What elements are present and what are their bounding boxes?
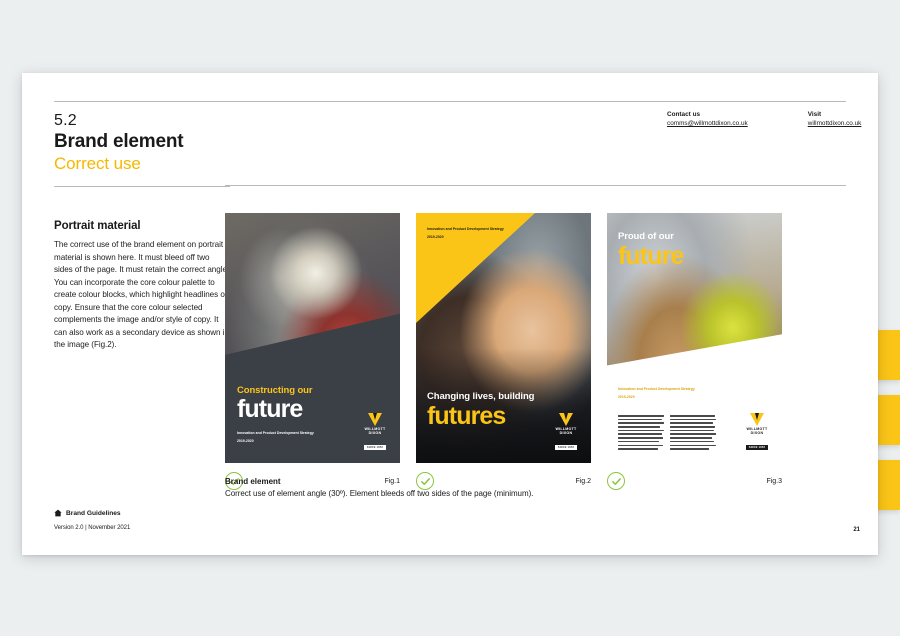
cover-2-headline-main: futures [427, 404, 547, 429]
screenshot-stage: 5.2 Brand element Correct use Portrait m… [0, 0, 900, 636]
cover-3-logo-bar: SINCE 1852 [746, 445, 767, 449]
willmott-dixon-mark-icon [368, 413, 382, 426]
cover-1-logo: WILLMOTT DIXON SINCE 1852 [358, 413, 392, 454]
card-3-figure-label: Fig.3 [766, 478, 782, 485]
cover-3-body-columns [618, 415, 716, 452]
header-divider-bottom [225, 185, 846, 186]
divider-bottom [54, 186, 230, 187]
contact-block: Contact us comms@willmottdixon.co.uk Vis… [667, 111, 847, 127]
check-circle-icon [607, 472, 625, 490]
card-2-figure-label: Fig.2 [575, 478, 591, 485]
footer-title-row: Brand Guidelines [54, 504, 130, 522]
figure-caption-title: Brand element [225, 477, 533, 486]
cover-2-logo-bar: SINCE 1852 [555, 445, 576, 449]
cover-2-logo-name: WILLMOTT DIXON [549, 427, 583, 435]
figure-caption: Brand element Correct use of element ang… [225, 477, 533, 498]
cover-3-tagline-text: Innovation and Product Development Strat… [618, 387, 695, 391]
cover-2-tagline-years: 2019-2020 [427, 235, 504, 240]
cover-1-tagline-text: Innovation and Product Development Strat… [237, 431, 314, 435]
section-title: Brand element [54, 131, 230, 153]
portrait-cover-2[interactable]: Innovation and Product Development Strat… [416, 213, 591, 463]
cover-1-logo-bar: SINCE 1852 [364, 445, 385, 449]
section-number: 5.2 [54, 112, 230, 130]
card-3-caption-row: Fig.3 [607, 472, 782, 490]
header-divider-top [225, 101, 846, 102]
willmott-dixon-mark-icon [750, 413, 764, 426]
card-row: Constructing our future Innovation and P… [225, 213, 782, 490]
cover-1-tagline-years: 2019-2020 [237, 439, 314, 444]
contact-email-link[interactable]: comms@willmottdixon.co.uk [667, 120, 748, 127]
page-footer: Brand Guidelines Version 2.0 | November … [54, 504, 130, 531]
figure-caption-body: Correct use of element angle (30º). Elem… [225, 489, 533, 498]
cover-1-tagline: Innovation and Product Development Strat… [237, 431, 314, 444]
cover-3-headline: Proud of our future [618, 231, 748, 269]
cover-2-tagline: Innovation and Product Development Strat… [427, 227, 504, 240]
left-column: 5.2 Brand element Correct use Portrait m… [54, 101, 230, 352]
page-number: 21 [853, 527, 860, 533]
footer-version: Version 2.0 | November 2021 [54, 525, 130, 531]
divider-top [54, 101, 230, 102]
footer-title: Brand Guidelines [66, 510, 121, 517]
contact-us-group: Contact us comms@willmottdixon.co.uk [667, 111, 748, 127]
intro-body: The correct use of the brand element on … [54, 239, 230, 352]
cover-1-headline: Constructing our future [237, 385, 312, 422]
willmott-dixon-mark-icon [559, 413, 573, 426]
portrait-cover-3[interactable]: Proud of our future Innovation and Produ… [607, 213, 782, 463]
cover-3-body-column-1 [618, 415, 664, 452]
card-1: Constructing our future Innovation and P… [225, 213, 400, 490]
cover-3-body-column-2 [670, 415, 716, 452]
cover-2-headline: Changing lives, building futures [427, 391, 547, 429]
visit-url-link[interactable]: willmottdixon.co.uk [808, 120, 862, 127]
cover-3-logo-name: WILLMOTT DIXON [740, 427, 774, 435]
cover-2-tagline-text: Innovation and Product Development Strat… [427, 227, 504, 231]
cover-3-tagline-years: 2019-2020 [618, 395, 695, 400]
document-page: 5.2 Brand element Correct use Portrait m… [22, 73, 878, 555]
cover-3-tagline: Innovation and Product Development Strat… [618, 387, 695, 400]
visit-group: Visit willmottdixon.co.uk [808, 111, 862, 127]
contact-us-label: Contact us [667, 111, 748, 118]
home-icon[interactable] [54, 504, 62, 522]
cover-1-logo-name: WILLMOTT DIXON [358, 427, 392, 435]
card-3: Proud of our future Innovation and Produ… [607, 213, 782, 490]
cover-2-logo: WILLMOTT DIXON SINCE 1852 [549, 413, 583, 454]
cover-3-logo: WILLMOTT DIXON SINCE 1852 [740, 413, 774, 454]
intro-heading: Portrait material [54, 220, 230, 232]
cover-1-headline-main: future [237, 397, 312, 422]
portrait-cover-1[interactable]: Constructing our future Innovation and P… [225, 213, 400, 463]
visit-label: Visit [808, 111, 862, 118]
cover-3-headline-main: future [618, 244, 748, 269]
card-2: Innovation and Product Development Strat… [416, 213, 591, 490]
section-subtitle: Correct use [54, 154, 230, 174]
